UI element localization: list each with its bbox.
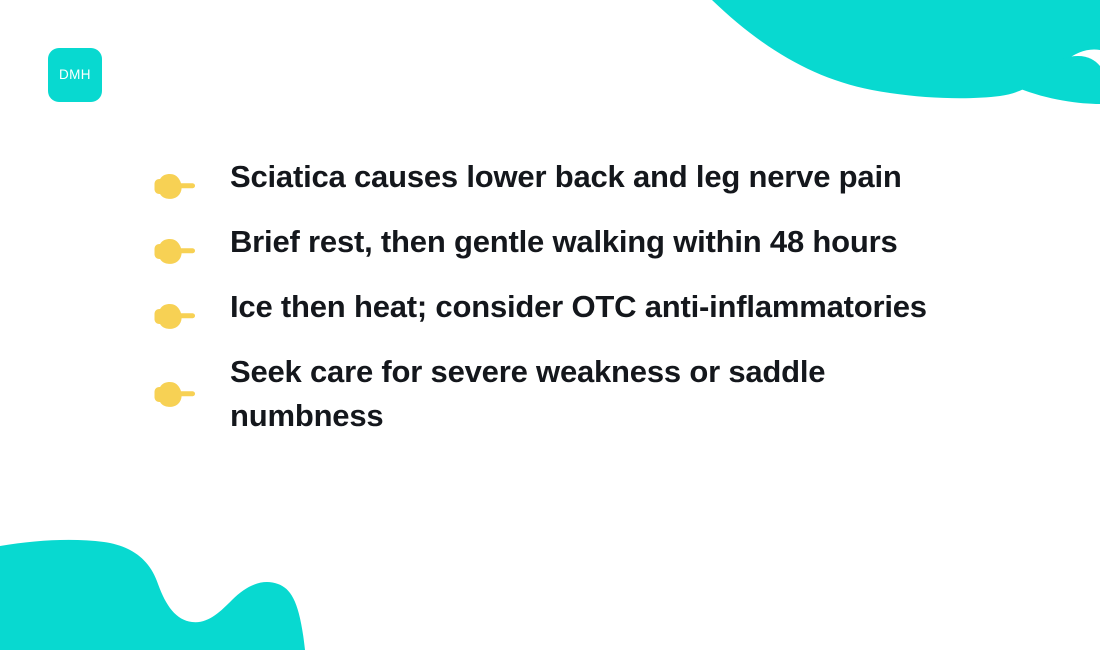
list-item-label: Ice then heat; consider OTC anti-inflamm… — [230, 285, 930, 329]
teal-wave-bottom-left-icon — [0, 540, 305, 650]
teal-wave-top-right-icon — [712, 0, 1100, 98]
logo[interactable]: DMH — [48, 48, 102, 102]
pointing-right-hand-icon — [150, 285, 230, 333]
list-item: Brief rest, then gentle walking within 4… — [150, 220, 1050, 268]
pointing-right-hand-icon — [150, 377, 230, 411]
list-item-label: Seek care for severe weakness or saddle … — [230, 350, 890, 438]
teal-wave-top-right-lobe-icon — [1018, 56, 1100, 104]
slide-canvas: DMH Sciatica causes lower back and leg n… — [0, 0, 1100, 650]
list-item-label: Sciatica causes lower back and leg nerve… — [230, 155, 930, 199]
bullet-list: Sciatica causes lower back and leg nerve… — [150, 155, 1050, 455]
list-item-label: Brief rest, then gentle walking within 4… — [230, 220, 930, 264]
pointing-right-hand-icon — [150, 220, 230, 268]
list-item: Ice then heat; consider OTC anti-inflamm… — [150, 285, 1050, 333]
pointing-right-hand-icon — [150, 155, 230, 203]
logo-text: DMH — [59, 68, 91, 82]
list-item: Seek care for severe weakness or saddle … — [150, 350, 1050, 438]
list-item: Sciatica causes lower back and leg nerve… — [150, 155, 1050, 203]
